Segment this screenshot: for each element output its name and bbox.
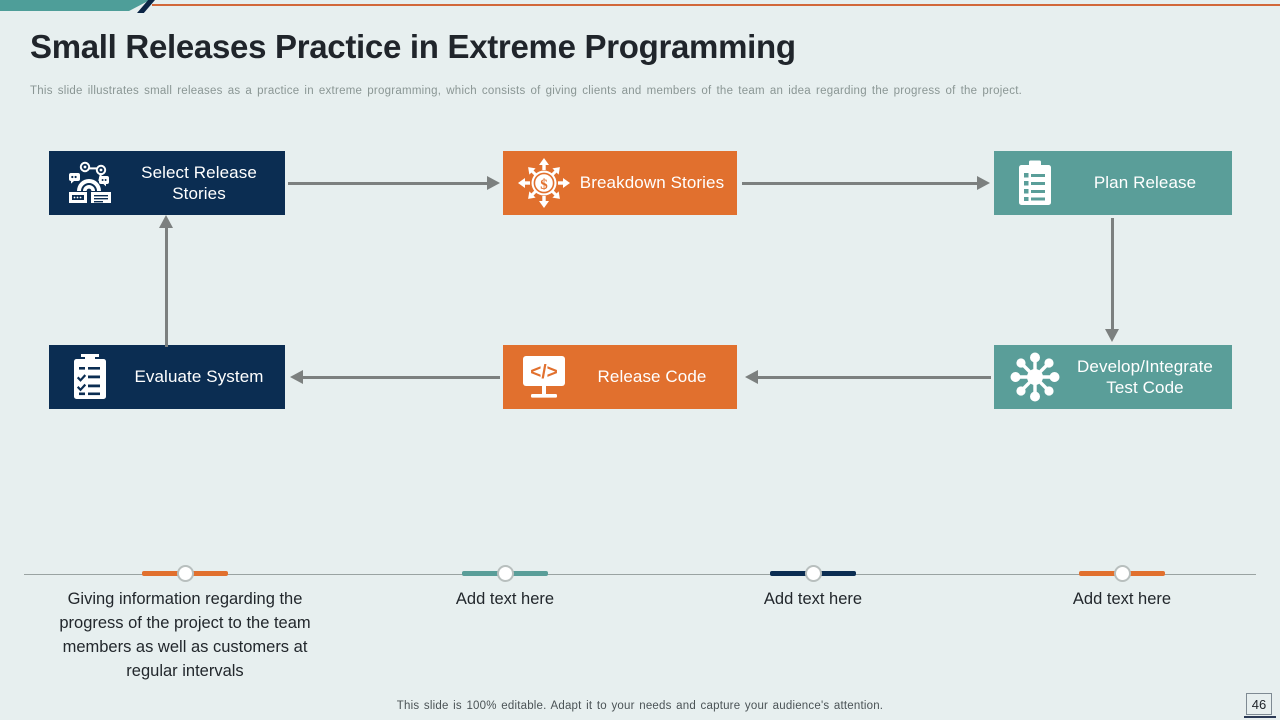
arrow-head-icon bbox=[159, 215, 173, 228]
timeline-dot-icon bbox=[805, 565, 822, 582]
svg-text:$: $ bbox=[540, 177, 548, 193]
clipboard-check-icon bbox=[59, 351, 121, 403]
arrow-plan-to-develop bbox=[1104, 218, 1120, 342]
timeline-label: Add text here bbox=[355, 588, 655, 612]
arrow-select-to-breakdown bbox=[288, 175, 500, 191]
svg-text:</>: </> bbox=[530, 362, 557, 383]
arrow-breakdown-to-plan bbox=[742, 175, 990, 191]
arrow-release-to-evaluate bbox=[290, 369, 500, 385]
timeline-dot-icon bbox=[177, 565, 194, 582]
arrow-shaft bbox=[742, 182, 978, 185]
process-box-label: Breakdown Stories bbox=[575, 172, 737, 193]
process-box-label: Plan Release bbox=[1066, 172, 1232, 193]
process-box-evaluate-system[interactable]: Evaluate System bbox=[49, 345, 285, 409]
timeline-dot-icon bbox=[1114, 565, 1131, 582]
arrow-shaft bbox=[288, 182, 488, 185]
process-box-label: Select Release Stories bbox=[121, 162, 285, 205]
arrow-shaft bbox=[757, 376, 991, 379]
arrow-develop-to-release bbox=[745, 369, 991, 385]
process-box-breakdown-stories[interactable]: $ Breakdown Stories bbox=[503, 151, 737, 215]
arrow-shaft bbox=[1111, 218, 1114, 330]
arrow-shaft bbox=[165, 227, 168, 347]
timeline-dot-icon bbox=[497, 565, 514, 582]
network-server-icon bbox=[59, 157, 121, 209]
process-box-plan-release[interactable]: Plan Release bbox=[994, 151, 1232, 215]
page-title: Small Releases Practice in Extreme Progr… bbox=[30, 28, 796, 66]
footer-note: This slide is 100% editable. Adapt it to… bbox=[0, 700, 1280, 712]
arrow-head-icon bbox=[487, 176, 500, 190]
arrow-head-icon bbox=[290, 370, 303, 384]
top-decoration-bar bbox=[0, 0, 1280, 14]
molecule-node-icon bbox=[1004, 351, 1066, 403]
top-orange-rule bbox=[152, 4, 1280, 6]
clipboard-list-icon bbox=[1004, 157, 1066, 209]
process-box-label: Release Code bbox=[575, 366, 737, 387]
page-subtitle: This slide illustrates small releases as… bbox=[30, 85, 1120, 97]
code-monitor-icon: </> bbox=[513, 351, 575, 403]
arrow-evaluate-to-select bbox=[158, 215, 174, 347]
process-box-select-release-stories[interactable]: Select Release Stories bbox=[49, 151, 285, 215]
process-box-label: Develop/Integrate Test Code bbox=[1066, 356, 1232, 399]
arrow-head-icon bbox=[745, 370, 758, 384]
arrow-shaft bbox=[302, 376, 500, 379]
process-box-develop-integrate-test-code[interactable]: Develop/Integrate Test Code bbox=[994, 345, 1232, 409]
page-number-badge: 46 bbox=[1246, 693, 1272, 715]
process-box-label: Evaluate System bbox=[121, 366, 285, 387]
arrow-head-icon bbox=[977, 176, 990, 190]
top-teal-band bbox=[0, 0, 150, 11]
dollar-burst-icon: $ bbox=[513, 157, 575, 209]
timeline-label: Giving information regarding the progres… bbox=[35, 588, 335, 684]
timeline-label: Add text here bbox=[663, 588, 963, 612]
arrow-head-icon bbox=[1105, 329, 1119, 342]
slide-canvas: Small Releases Practice in Extreme Progr… bbox=[0, 0, 1280, 720]
timeline-label: Add text here bbox=[972, 588, 1272, 612]
process-box-release-code[interactable]: </> Release Code bbox=[503, 345, 737, 409]
